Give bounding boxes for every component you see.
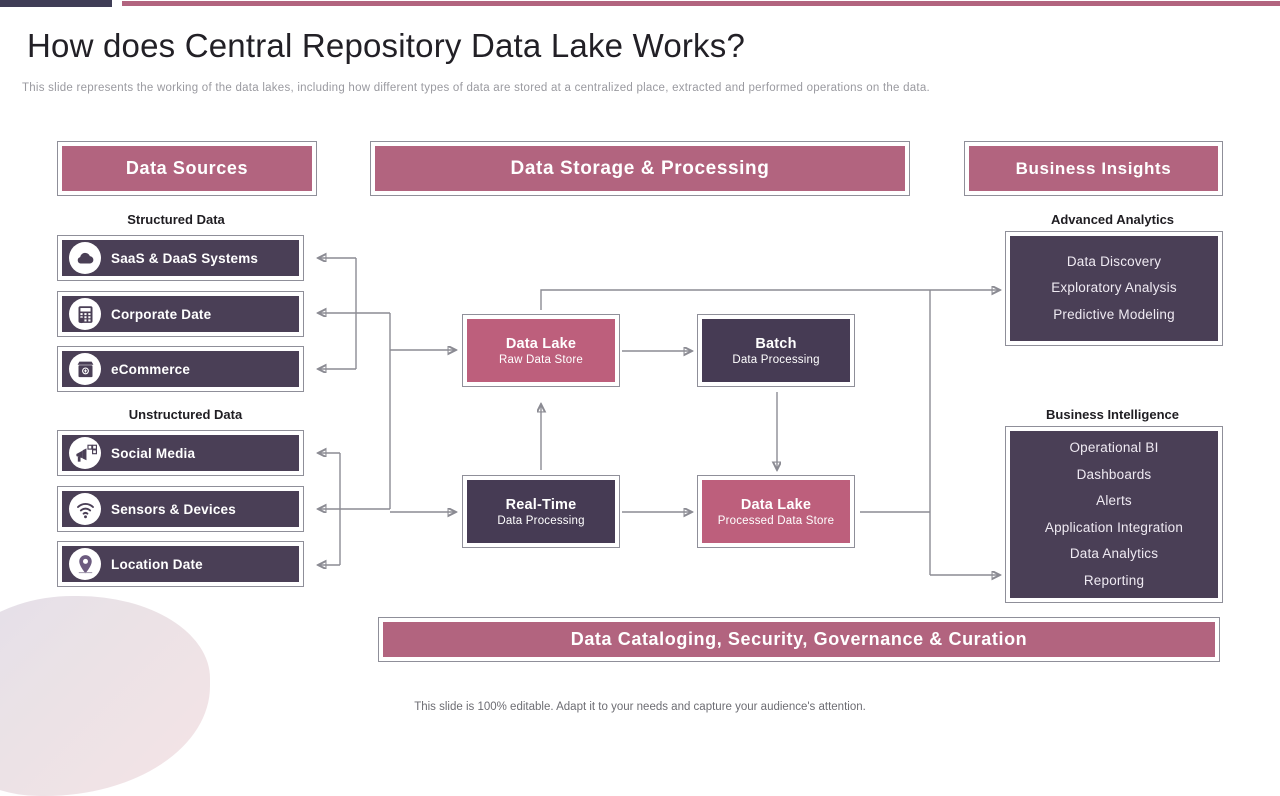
cloud-icon bbox=[69, 242, 101, 274]
banner-data-governance-label: Data Cataloging, Security, Governance & … bbox=[383, 622, 1215, 657]
process-box-title: Real-Time bbox=[506, 497, 577, 513]
panel-list-item: Reporting bbox=[1084, 568, 1144, 595]
wifi-signal-icon bbox=[69, 493, 101, 525]
process-box-subtitle: Data Processing bbox=[497, 515, 584, 527]
source-item-social-media[interactable]: Social Media bbox=[57, 430, 304, 476]
process-box-real-time[interactable]: Real-Time Data Processing bbox=[462, 475, 620, 548]
source-item-saas-daas[interactable]: SaaS & DaaS Systems bbox=[57, 235, 304, 281]
panel-list-item: Exploratory Analysis bbox=[1051, 275, 1177, 302]
banner-business-insights: Business Insights bbox=[964, 141, 1223, 196]
banner-data-storage-label: Data Storage & Processing bbox=[375, 146, 905, 191]
panel-advanced-analytics[interactable]: Data Discovery Exploratory Analysis Pred… bbox=[1005, 231, 1223, 346]
location-pin-icon bbox=[69, 548, 101, 580]
decorative-blob bbox=[0, 596, 210, 796]
process-box-subtitle: Processed Data Store bbox=[718, 515, 835, 527]
source-item-label: SaaS & DaaS Systems bbox=[111, 251, 258, 266]
process-box-title: Batch bbox=[755, 336, 796, 352]
banner-data-governance: Data Cataloging, Security, Governance & … bbox=[378, 617, 1220, 662]
process-box-title: Data Lake bbox=[741, 497, 811, 513]
caption-unstructured-data: Unstructured Data bbox=[57, 407, 314, 422]
caption-business-intelligence: Business Intelligence bbox=[964, 407, 1261, 422]
page-title: How does Central Repository Data Lake Wo… bbox=[27, 27, 1127, 65]
slide-footer-note: This slide is 100% editable. Adapt it to… bbox=[0, 701, 1280, 713]
process-box-subtitle: Raw Data Store bbox=[499, 354, 583, 366]
source-item-label: Location Date bbox=[111, 557, 203, 572]
source-item-label: Corporate Date bbox=[111, 307, 211, 322]
source-item-location-date[interactable]: Location Date bbox=[57, 541, 304, 587]
calculator-icon bbox=[69, 298, 101, 330]
panel-list-item: Application Integration bbox=[1045, 515, 1183, 542]
page-subtitle: This slide represents the working of the… bbox=[22, 82, 1142, 94]
banner-data-sources: Data Sources bbox=[57, 141, 317, 196]
top-accent-bar-navy bbox=[0, 0, 112, 7]
source-item-sensors-devices[interactable]: Sensors & Devices bbox=[57, 486, 304, 532]
panel-list-item: Alerts bbox=[1096, 488, 1132, 515]
caption-structured-data: Structured Data bbox=[57, 212, 295, 227]
megaphone-icon bbox=[69, 437, 101, 469]
panel-list-item: Dashboards bbox=[1077, 462, 1152, 489]
process-box-title: Data Lake bbox=[506, 336, 576, 352]
panel-list-item: Predictive Modeling bbox=[1053, 302, 1175, 329]
process-box-batch[interactable]: Batch Data Processing bbox=[697, 314, 855, 387]
source-item-label: Sensors & Devices bbox=[111, 502, 236, 517]
banner-data-sources-label: Data Sources bbox=[62, 146, 312, 191]
source-item-corporate-date[interactable]: Corporate Date bbox=[57, 291, 304, 337]
panel-business-intelligence[interactable]: Operational BI Dashboards Alerts Applica… bbox=[1005, 426, 1223, 603]
panel-list-item: Data Discovery bbox=[1067, 249, 1161, 276]
banner-data-storage: Data Storage & Processing bbox=[370, 141, 910, 196]
source-item-label: Social Media bbox=[111, 446, 195, 461]
top-accent-bar-rose bbox=[122, 1, 1280, 6]
storefront-icon bbox=[69, 353, 101, 385]
caption-advanced-analytics: Advanced Analytics bbox=[964, 212, 1261, 227]
process-box-data-lake-processed[interactable]: Data Lake Processed Data Store bbox=[697, 475, 855, 548]
banner-business-insights-label: Business Insights bbox=[969, 146, 1218, 191]
panel-list-item: Operational BI bbox=[1069, 435, 1158, 462]
process-box-subtitle: Data Processing bbox=[732, 354, 819, 366]
process-box-data-lake-raw[interactable]: Data Lake Raw Data Store bbox=[462, 314, 620, 387]
source-item-ecommerce[interactable]: eCommerce bbox=[57, 346, 304, 392]
panel-list-item: Data Analytics bbox=[1070, 541, 1158, 568]
source-item-label: eCommerce bbox=[111, 362, 190, 377]
